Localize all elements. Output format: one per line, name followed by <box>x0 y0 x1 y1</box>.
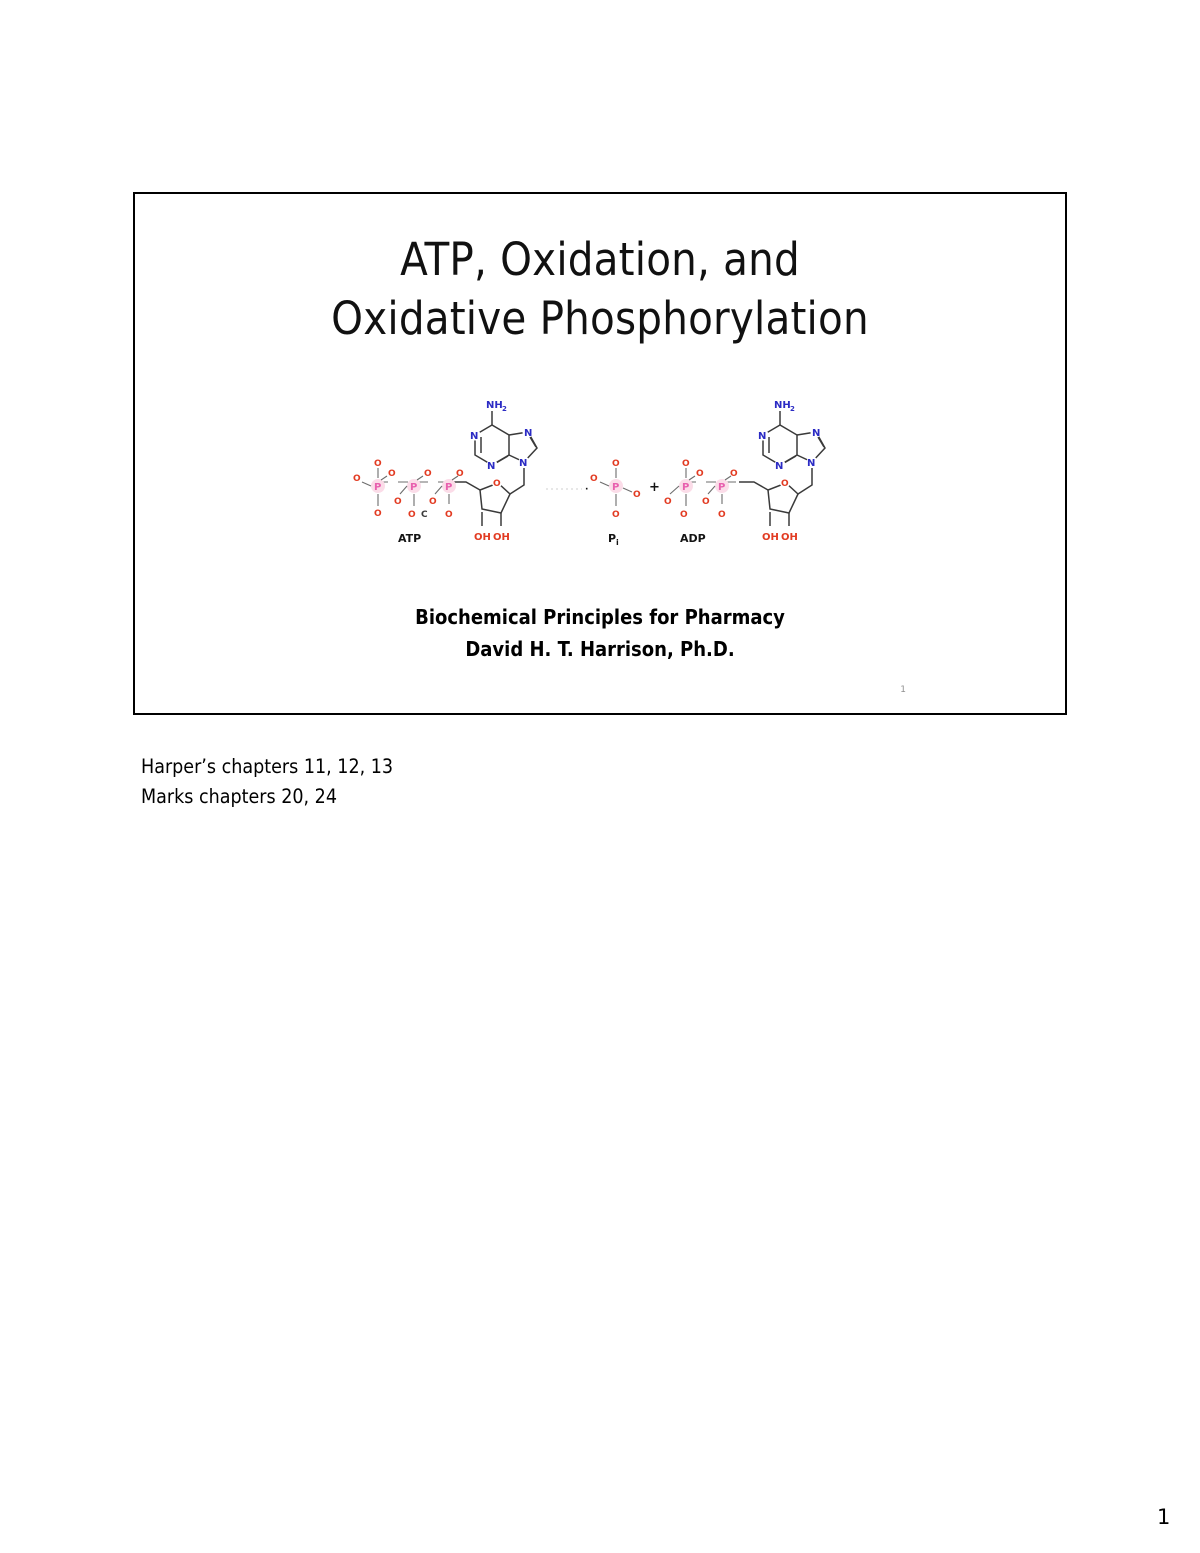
atp-o-alpha-bottom: O <box>445 510 453 520</box>
atp-amine-subscript: 2 <box>502 405 507 413</box>
adp-n7: N <box>812 428 820 439</box>
slide-title-line-1: ATP, Oxidation, and <box>135 230 1065 289</box>
pi-o-bottom: O <box>612 510 620 520</box>
adp-n1: N <box>758 431 766 442</box>
adp-diphosphate-chain: P O O O O P O O O <box>664 459 738 520</box>
atp-molecule: NH 2 N N N N <box>353 400 537 545</box>
adp-p-alpha: P <box>718 482 725 493</box>
pi-o-top: O <box>612 459 620 469</box>
course-title: Biochemical Principles for Pharmacy <box>135 601 1065 633</box>
atp-triphosphate-chain: P O O O O P O O O C P <box>353 459 464 520</box>
atp-o-gamma-bridge: O <box>388 469 396 479</box>
atp-o-alpha-bridge: O <box>456 469 464 479</box>
atp-o-gamma-bottom: O <box>374 509 382 519</box>
page-number: 1 <box>1157 1505 1170 1529</box>
adp-o-beta-bottom: O <box>680 510 688 520</box>
pi-caption-subscript: i <box>616 538 619 547</box>
adp-o-alpha-bottom: O <box>718 510 726 520</box>
adp-caption: ADP <box>680 532 706 545</box>
adp-o-alpha-left: O <box>702 497 710 507</box>
adp-o-beta-bridge: O <box>696 469 704 479</box>
adp-o-alpha-bridge: O <box>730 469 738 479</box>
atp-ribose-oh-right: OH <box>493 532 510 543</box>
atp-hydrolysis-diagram: NH 2 N N N N <box>350 390 860 575</box>
slide-title-line-2: Oxidative Phosphorylation <box>135 289 1065 348</box>
adp-ribose-oh-left: OH <box>762 532 779 543</box>
slide-title: ATP, Oxidation, and Oxidative Phosphoryl… <box>135 230 1065 349</box>
atp-p-beta: P <box>410 482 417 493</box>
atp-o-beta-bottom: O <box>408 510 416 520</box>
atp-o-beta-bridge: O <box>424 469 432 479</box>
pi-p-center: P <box>612 482 619 493</box>
adp-molecule: NH 2 N N N N O <box>664 400 825 545</box>
author-name: David H. T. Harrison, Ph.D. <box>135 633 1065 665</box>
pi-o-right: O <box>633 490 641 500</box>
atp-n1: N <box>470 431 478 442</box>
adp-amine-label: NH <box>774 400 791 411</box>
slide-subtitle: Biochemical Principles for Pharmacy Davi… <box>135 601 1065 666</box>
adp-o-beta-top: O <box>682 459 690 469</box>
note-line-marks: Marks chapters 20, 24 <box>141 782 393 812</box>
slide-number: 1 <box>900 685 906 695</box>
atp-ribose-ring: O OH OH <box>451 477 510 544</box>
atp-amine-label: NH <box>486 400 503 411</box>
reaction-connector: · <box>546 485 588 495</box>
atp-n9: N <box>519 458 527 469</box>
reading-assignment-notes: Harper’s chapters 11, 12, 13 Marks chapt… <box>141 752 393 811</box>
slide-frame: ATP, Oxidation, and Oxidative Phosphoryl… <box>133 192 1067 715</box>
adp-p-beta: P <box>682 482 689 493</box>
adp-adenine-ring: NH 2 N N N N <box>758 400 826 494</box>
pi-molecule: P O O O O P i <box>590 459 641 547</box>
adp-amine-subscript: 2 <box>790 405 795 413</box>
pi-caption: P <box>608 532 616 545</box>
atp-p-alpha: P <box>445 482 452 493</box>
adp-ribose-oxygen: O <box>781 479 789 489</box>
atp-o-gamma-top: O <box>374 459 382 469</box>
atp-adenine-ring: NH 2 N N N N <box>470 400 538 494</box>
adp-n3: N <box>775 461 783 472</box>
adp-o-beta-left: O <box>664 497 672 507</box>
atp-n3: N <box>487 461 495 472</box>
adp-ribose-ring: O OH OH <box>739 477 798 544</box>
note-line-harpers: Harper’s chapters 11, 12, 13 <box>141 752 393 782</box>
atp-c-beta: C <box>421 510 428 520</box>
reaction-dot: · <box>585 485 588 495</box>
atp-caption: ATP <box>398 532 421 545</box>
adp-ribose-oh-right: OH <box>781 532 798 543</box>
atp-o-alpha-left: O <box>429 497 437 507</box>
pi-o-left: O <box>590 474 598 484</box>
plus-sign: + <box>649 480 660 495</box>
atp-o-gamma-left: O <box>353 474 361 484</box>
atp-o-beta-left: O <box>394 497 402 507</box>
atp-ribose-oxygen: O <box>493 479 501 489</box>
atp-ribose-oh-left: OH <box>474 532 491 543</box>
atp-n7: N <box>524 428 532 439</box>
atp-p-gamma: P <box>374 482 381 493</box>
adp-n9: N <box>807 458 815 469</box>
